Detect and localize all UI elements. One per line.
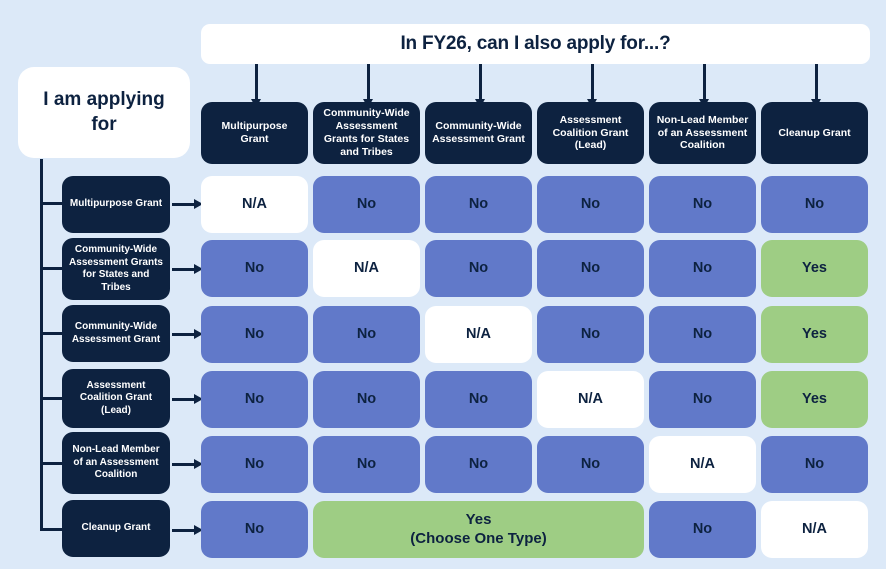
row-header-label: Non-Lead Member of an Assessment Coaliti…	[67, 444, 165, 482]
row-header-label: Community-Wide Assessment Grant	[67, 321, 165, 346]
cell-value: No	[805, 195, 824, 213]
row-header-label: Assessment Coalition Grant (Lead)	[67, 380, 165, 418]
cell-value: No	[469, 195, 488, 213]
cell-value: No	[469, 455, 488, 473]
cell-r2c4[interactable]: No	[537, 240, 644, 297]
cell-value: No	[469, 390, 488, 408]
cell-r6c5[interactable]: No	[649, 501, 756, 558]
cell-r3c4[interactable]: No	[537, 306, 644, 363]
cell-value: No	[357, 455, 376, 473]
cell-r4c6[interactable]: Yes	[761, 371, 868, 428]
cell-value: Yes	[802, 259, 827, 277]
row-arrow-5	[172, 463, 194, 466]
cell-value: N/A	[578, 390, 603, 408]
cell-r4c2[interactable]: No	[313, 371, 420, 428]
matrix-title-banner: In FY26, can I also apply for...?	[201, 24, 870, 64]
cell-r3c5[interactable]: No	[649, 306, 756, 363]
column-header-assessment-coalition-grant-lead[interactable]: Assessment Coalition Grant (Lead)	[537, 102, 644, 164]
row-bracket-branch-1	[40, 202, 62, 205]
cell-value: No	[581, 195, 600, 213]
column-header-community-wide-assessment-grant[interactable]: Community-Wide Assessment Grant	[425, 102, 532, 164]
cell-r6c2-c3-merged[interactable]: Yes (Choose One Type)	[313, 501, 644, 558]
decision-matrix-canvas: In FY26, can I also apply for...? I am a…	[0, 0, 886, 569]
cell-value: No	[245, 325, 264, 343]
row-bracket-branch-4	[40, 397, 62, 400]
cell-r1c4[interactable]: No	[537, 176, 644, 233]
cell-value: No	[581, 259, 600, 277]
row-arrow-1	[172, 203, 194, 206]
cell-value: Yes	[802, 325, 827, 343]
cell-r2c2[interactable]: N/A	[313, 240, 420, 297]
cell-r1c2[interactable]: No	[313, 176, 420, 233]
column-header-cleanup-grant[interactable]: Cleanup Grant	[761, 102, 868, 164]
cell-r2c5[interactable]: No	[649, 240, 756, 297]
cell-value: No	[693, 325, 712, 343]
cell-value: No	[581, 455, 600, 473]
down-arrow-col-6	[815, 64, 818, 100]
down-arrow-col-1	[255, 64, 258, 100]
cell-r4c1[interactable]: No	[201, 371, 308, 428]
cell-r1c6[interactable]: No	[761, 176, 868, 233]
down-arrow-col-5	[703, 64, 706, 100]
cell-value: N/A	[466, 325, 491, 343]
cell-value-line1: Yes	[410, 511, 546, 530]
row-bracket-branch-2	[40, 267, 62, 270]
row-arrow-2	[172, 268, 194, 271]
column-header-label: Cleanup Grant	[778, 127, 850, 140]
cell-r2c1[interactable]: No	[201, 240, 308, 297]
row-bracket-branch-3	[40, 332, 62, 335]
column-header-label: Community-Wide Assessment Grants for Sta…	[319, 107, 414, 158]
row-header-community-wide-assessment-grant[interactable]: Community-Wide Assessment Grant	[62, 305, 170, 362]
row-axis-title-panel: I am applying for	[18, 67, 190, 158]
cell-value: No	[245, 259, 264, 277]
cell-value: No	[805, 455, 824, 473]
cell-value: No	[581, 325, 600, 343]
column-header-non-lead-member-assessment-coalition[interactable]: Non-Lead Member of an Assessment Coaliti…	[649, 102, 756, 164]
row-header-label: Multipurpose Grant	[70, 198, 162, 211]
row-header-cleanup-grant[interactable]: Cleanup Grant	[62, 500, 170, 557]
cell-value: N/A	[242, 195, 267, 213]
cell-r3c2[interactable]: No	[313, 306, 420, 363]
column-header-multipurpose-grant[interactable]: Multipurpose Grant	[201, 102, 308, 164]
cell-value: No	[245, 455, 264, 473]
cell-value: No	[693, 195, 712, 213]
cell-r1c5[interactable]: No	[649, 176, 756, 233]
row-bracket-spine	[40, 159, 43, 531]
row-header-community-wide-assessment-grants-states-tribes[interactable]: Community-Wide Assessment Grants for Sta…	[62, 238, 170, 300]
row-header-label: Community-Wide Assessment Grants for Sta…	[67, 244, 165, 294]
row-arrow-3	[172, 333, 194, 336]
cell-r5c5[interactable]: N/A	[649, 436, 756, 493]
row-axis-title: I am applying for	[18, 88, 190, 137]
column-header-label: Non-Lead Member of an Assessment Coaliti…	[655, 114, 750, 152]
cell-r1c3[interactable]: No	[425, 176, 532, 233]
row-header-label: Cleanup Grant	[82, 522, 151, 535]
cell-r2c6[interactable]: Yes	[761, 240, 868, 297]
cell-r5c3[interactable]: No	[425, 436, 532, 493]
cell-r5c2[interactable]: No	[313, 436, 420, 493]
down-arrow-col-2	[367, 64, 370, 100]
cell-r6c1[interactable]: No	[201, 501, 308, 558]
column-header-label: Community-Wide Assessment Grant	[431, 120, 526, 146]
cell-value: No	[693, 259, 712, 277]
cell-value: No	[245, 520, 264, 538]
column-header-label: Multipurpose Grant	[207, 120, 302, 146]
row-header-assessment-coalition-grant-lead[interactable]: Assessment Coalition Grant (Lead)	[62, 369, 170, 428]
cell-r1c1[interactable]: N/A	[201, 176, 308, 233]
cell-value: N/A	[802, 520, 827, 538]
down-arrow-col-3	[479, 64, 482, 100]
cell-value-line2: (Choose One Type)	[410, 530, 546, 549]
column-header-label: Assessment Coalition Grant (Lead)	[543, 114, 638, 152]
row-bracket-branch-6	[40, 528, 62, 531]
down-arrow-col-4	[591, 64, 594, 100]
cell-r3c3[interactable]: N/A	[425, 306, 532, 363]
row-arrow-6	[172, 529, 194, 532]
row-header-multipurpose-grant[interactable]: Multipurpose Grant	[62, 176, 170, 233]
cell-value: Yes	[802, 390, 827, 408]
row-header-non-lead-member-assessment-coalition[interactable]: Non-Lead Member of an Assessment Coaliti…	[62, 432, 170, 494]
cell-r5c1[interactable]: No	[201, 436, 308, 493]
cell-r4c3[interactable]: No	[425, 371, 532, 428]
cell-value: No	[693, 520, 712, 538]
page-title: In FY26, can I also apply for...?	[400, 33, 670, 55]
cell-r4c5[interactable]: No	[649, 371, 756, 428]
row-bracket-branch-5	[40, 462, 62, 465]
cell-value: No	[693, 390, 712, 408]
cell-value: No	[357, 195, 376, 213]
cell-value: No	[245, 390, 264, 408]
cell-value: N/A	[690, 455, 715, 473]
cell-value: No	[357, 390, 376, 408]
cell-r5c4[interactable]: No	[537, 436, 644, 493]
cell-value: No	[469, 259, 488, 277]
cell-r3c1[interactable]: No	[201, 306, 308, 363]
cell-r6c6[interactable]: N/A	[761, 501, 868, 558]
cell-r3c6[interactable]: Yes	[761, 306, 868, 363]
cell-r4c4[interactable]: N/A	[537, 371, 644, 428]
column-header-community-wide-assessment-grants-states-tribes[interactable]: Community-Wide Assessment Grants for Sta…	[313, 102, 420, 164]
cell-r2c3[interactable]: No	[425, 240, 532, 297]
cell-r5c6[interactable]: No	[761, 436, 868, 493]
cell-value: N/A	[354, 259, 379, 277]
cell-value: No	[357, 325, 376, 343]
cell-value-merged: Yes (Choose One Type)	[410, 511, 546, 549]
row-arrow-4	[172, 398, 194, 401]
